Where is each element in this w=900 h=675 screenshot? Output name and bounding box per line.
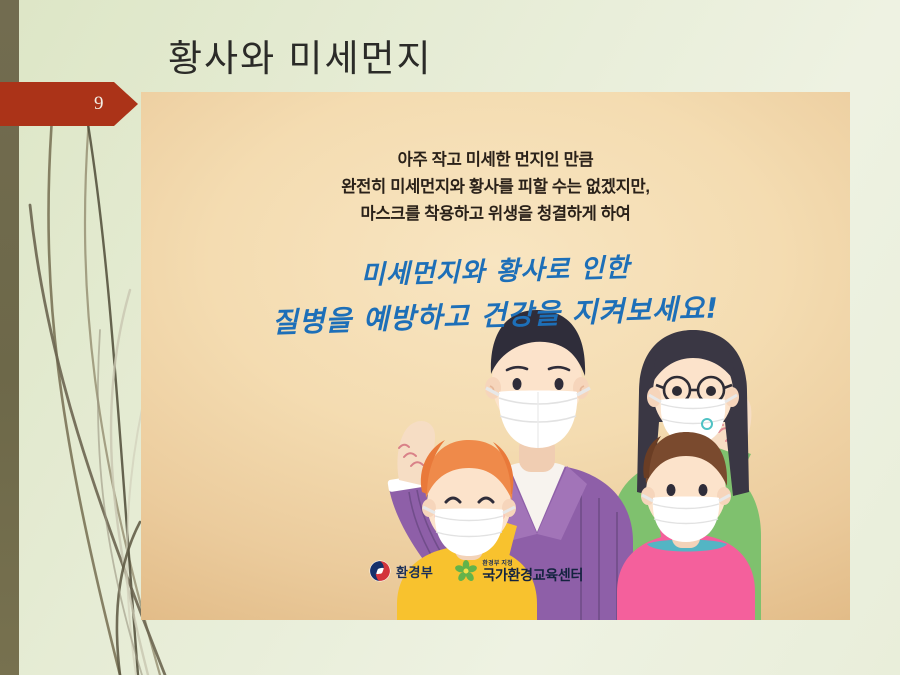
logo-strip: 환경부 환경부 지정 국가환경교육센터	[369, 560, 583, 582]
poster-body-text: 아주 작고 미세한 먼지인 만큼 완전히 미세먼지와 황사를 피할 수는 없겠지…	[141, 147, 850, 228]
logo-ministry-of-environment: 환경부	[369, 560, 433, 582]
body-line-1: 아주 작고 미세한 먼지인 만큼	[141, 147, 850, 174]
page-number: 9	[0, 82, 114, 126]
body-line-3: 마스크를 착용하고 위생을 청결하게 하여	[141, 201, 850, 228]
logo-nee-label: 국가환경교육센터	[482, 568, 583, 582]
banner-arrow-tip	[114, 82, 138, 126]
poster-headline: 미세먼지와 황사로 인한 질병을 예방하고 건강을 지켜보세요!	[141, 250, 850, 338]
logo-ministry-label: 환경부	[396, 562, 433, 581]
page-title: 황사와 미세먼지	[168, 28, 433, 82]
page-number-banner: 9	[0, 82, 138, 126]
logo-national-environmental-education-center: 환경부 지정 국가환경교육센터	[455, 560, 583, 582]
taegeuk-swirl-icon	[369, 560, 391, 582]
poster-panel: 아주 작고 미세한 먼지인 만큼 완전히 미세먼지와 황사를 피할 수는 없겠지…	[141, 92, 850, 620]
green-flower-icon	[455, 560, 477, 582]
slide-canvas: 9 황사와 미세먼지	[0, 0, 900, 675]
logo-nee-text-stack: 환경부 지정 국가환경교육센터	[482, 561, 583, 582]
logo-nee-sub-label: 환경부 지정	[482, 561, 583, 567]
body-line-2: 완전히 미세먼지와 황사를 피할 수는 없겠지만,	[141, 174, 850, 201]
